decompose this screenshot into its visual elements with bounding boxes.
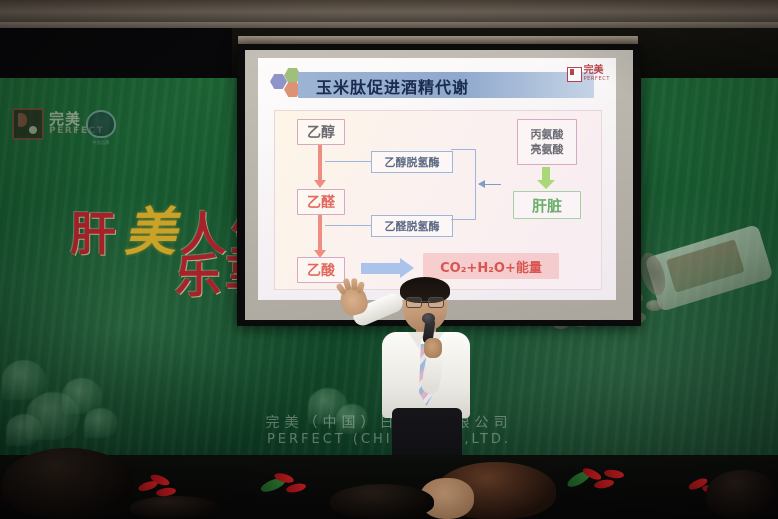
connector-adh bbox=[325, 161, 371, 162]
bottle-label bbox=[666, 239, 745, 293]
flower-petal bbox=[604, 469, 625, 480]
arrow-ethanol-to-acetaldehyde bbox=[318, 145, 322, 181]
partner-emblem-caption: 中国品牌 bbox=[86, 140, 116, 146]
audience-head bbox=[130, 496, 220, 519]
node-acetaldehyde: 乙醛 bbox=[297, 189, 345, 215]
slogan-char-gan: 肝 bbox=[70, 198, 120, 264]
poinsettia-flower bbox=[270, 468, 316, 502]
amino-acid-leucine: 亮氨酸 bbox=[531, 142, 564, 157]
node-liver: 肝脏 bbox=[513, 191, 581, 219]
perfect-logo-mark bbox=[12, 108, 44, 140]
arrow-acetaldehyde-to-acetate bbox=[318, 215, 322, 251]
bracket-spine bbox=[475, 149, 476, 220]
projected-slide: 玉米肽促进酒精代谢 完美 PERFECT 乙醇 乙醛 乙酸 乙醇脱氢酶 乙醛脱氢… bbox=[258, 58, 616, 300]
slide-logo-en: PERFECT bbox=[584, 76, 610, 82]
result-energy-output: CO₂+H₂O+能量 bbox=[423, 253, 559, 279]
node-acetate: 乙酸 bbox=[297, 257, 345, 283]
presentation-photo: 完美 PERFECT 中国品牌 肝 美 人生 乐享 完美（中国）日用品有限公司 … bbox=[0, 0, 778, 519]
slide-title: 玉米肽促进酒精代谢 bbox=[316, 74, 469, 98]
audience-head bbox=[330, 484, 434, 519]
enzyme-adh: 乙醇脱氢酶 bbox=[371, 151, 453, 173]
node-ethanol: 乙醇 bbox=[297, 119, 345, 145]
tablet bbox=[646, 300, 663, 311]
speaker-mic-hand bbox=[424, 338, 442, 358]
arrow-amino-to-liver bbox=[542, 167, 550, 181]
metabolism-diagram: 乙醇 乙醛 乙酸 乙醇脱氢酶 乙醛脱氢酶 丙氨酸 亮氨酸 肝脏 bbox=[274, 110, 602, 290]
audience-head bbox=[2, 448, 134, 519]
slide-perfect-logo: 完美 PERFECT bbox=[567, 66, 610, 82]
bracket-bottom bbox=[451, 219, 475, 220]
microphone-head bbox=[422, 313, 435, 324]
glasses-left-lens bbox=[406, 297, 422, 308]
connector-aldh bbox=[325, 225, 371, 226]
amino-acid-alanine: 丙氨酸 bbox=[531, 127, 564, 142]
slide-logo-mark bbox=[567, 67, 582, 82]
audience-head bbox=[706, 470, 778, 519]
glasses-icon bbox=[406, 297, 444, 306]
logo-divider bbox=[76, 112, 77, 134]
slide-logo-cn: 完美 bbox=[584, 66, 610, 76]
poinsettia-flower bbox=[580, 466, 626, 500]
banner-company-en: PERFECT (CHINA) CO.,LTD. bbox=[0, 432, 778, 447]
arrow-to-result bbox=[361, 263, 401, 274]
enzyme-aldh: 乙醛脱氢酶 bbox=[371, 215, 453, 237]
shield-icon bbox=[86, 110, 116, 138]
bracket-top bbox=[451, 149, 475, 150]
glasses-right-lens bbox=[428, 297, 444, 308]
arrow-liver-to-enzymes bbox=[479, 184, 501, 185]
slogan-char-mei: 美 bbox=[124, 190, 176, 265]
partner-emblem-logo: 中国品牌 bbox=[86, 110, 116, 146]
node-amino-acids: 丙氨酸 亮氨酸 bbox=[517, 119, 577, 165]
flower-petal bbox=[285, 482, 306, 494]
